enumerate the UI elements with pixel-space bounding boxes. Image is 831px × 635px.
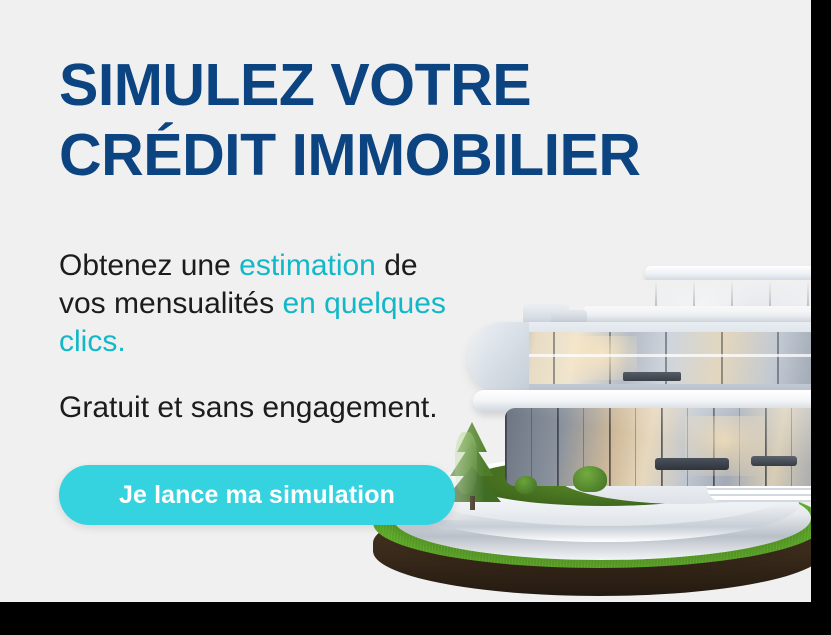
subhead-accent-1: estimation: [239, 249, 376, 282]
bottom-chrome-band: [0, 602, 831, 635]
subhead-text-1: Obtenez une: [59, 249, 239, 282]
hero-tagline: Gratuit et sans engagement.: [59, 389, 699, 427]
page-title: SIMULEZ VOTRE CRÉDIT IMMOBILIER: [59, 50, 699, 190]
cta-container: Je lance ma simulation: [59, 465, 699, 525]
hero-content: SIMULEZ VOTRE CRÉDIT IMMOBILIER Obtenez …: [59, 0, 699, 525]
start-simulation-button[interactable]: Je lance ma simulation: [59, 465, 455, 525]
landing-page: SIMULEZ VOTRE CRÉDIT IMMOBILIER Obtenez …: [0, 0, 811, 602]
screenshot-viewport: SIMULEZ VOTRE CRÉDIT IMMOBILIER Obtenez …: [0, 0, 831, 635]
right-chrome-band: [811, 0, 831, 635]
hero-subheading: Obtenez une estimation de vos mensualité…: [59, 247, 449, 361]
